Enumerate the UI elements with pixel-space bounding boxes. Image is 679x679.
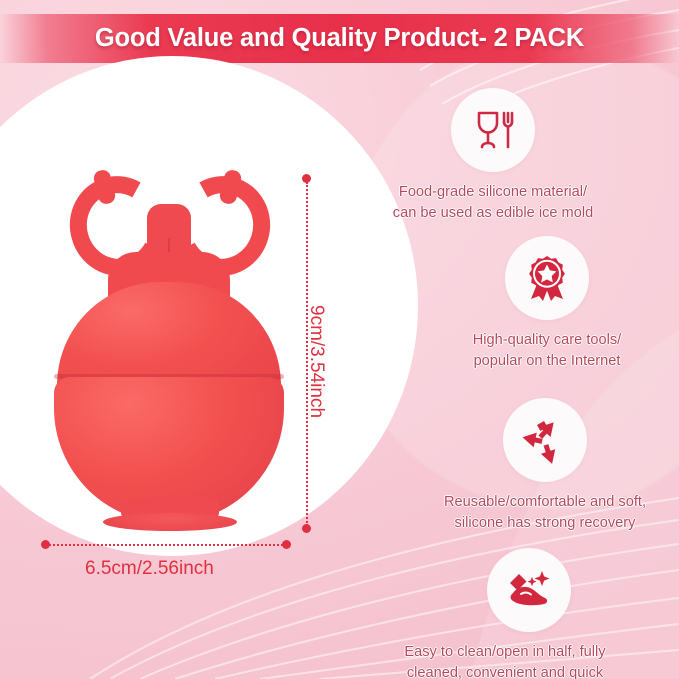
product-infographic: Good Value and Quality Product- 2 PACK 9… [0, 0, 679, 679]
feature-icon-circle [451, 88, 535, 172]
banner-title: Good Value and Quality Product- 2 PACK [95, 24, 584, 53]
feature-item-easy-to-clean: Easy to clean/open in half, fully cleane… [330, 548, 679, 679]
feature-item-high-quality: High-quality care tools/ popular on the … [430, 236, 664, 371]
wine-glass-fork-icon [470, 107, 516, 153]
feature-text: Reusable/comfortable and soft, silicone … [412, 492, 678, 533]
product-illustration [44, 168, 294, 543]
height-dim-dot-bottom [302, 524, 311, 533]
height-dim-label: 9cm/3.54inch [305, 305, 327, 418]
width-dim-line [49, 544, 283, 546]
feature-icon-circle [505, 236, 589, 320]
width-dim-dot-right [282, 540, 291, 549]
width-dim-label: 6.5cm/2.56inch [85, 558, 214, 580]
feature-text: Food-grade silicone material/ can be use… [364, 182, 622, 223]
product-suction-base [103, 513, 237, 531]
header-banner: Good Value and Quality Product- 2 PACK [0, 14, 679, 63]
feature-item-food-grade: Food-grade silicone material/ can be use… [364, 88, 622, 223]
feature-icon-circle [503, 398, 587, 482]
cleaning-hand-sparkle-icon [504, 566, 554, 614]
recycle-icon [521, 416, 569, 464]
feature-text: High-quality care tools/ popular on the … [430, 330, 664, 371]
award-ribbon-star-icon [523, 254, 571, 302]
feature-item-reusable: Reusable/comfortable and soft, silicone … [412, 398, 678, 533]
feature-text: Easy to clean/open in half, fully cleane… [330, 642, 679, 679]
feature-icon-circle [487, 548, 571, 632]
